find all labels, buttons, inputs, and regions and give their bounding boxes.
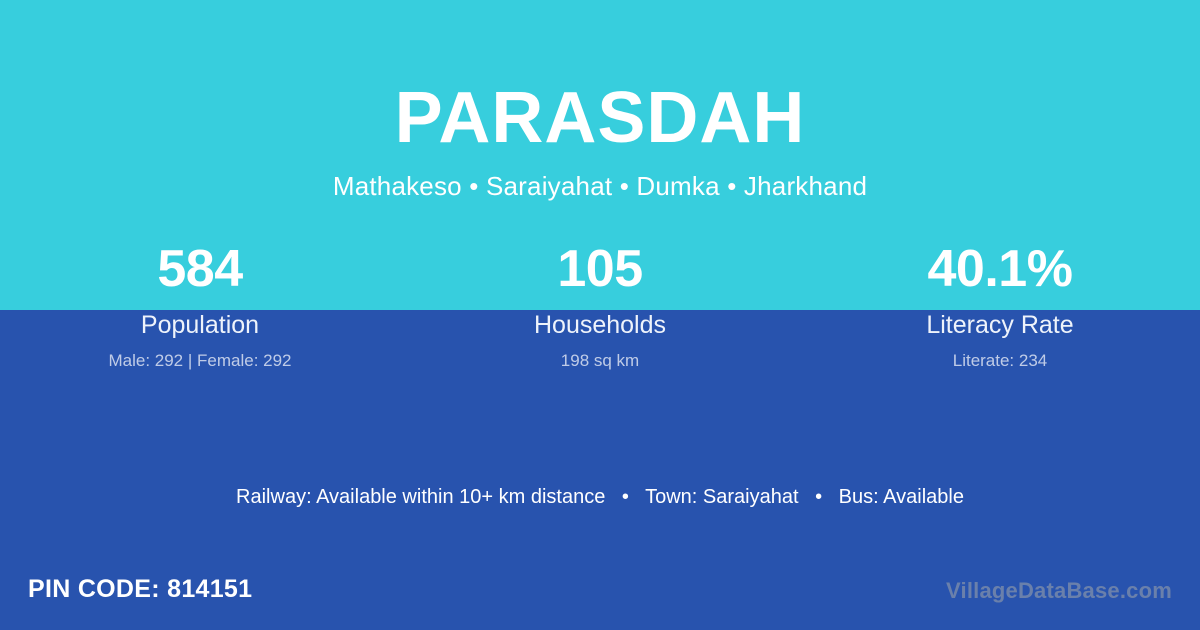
card-header: PARASDAH Mathakeso • Saraiyahat • Dumka … [0, 0, 1200, 199]
infrastructure-row: Railway: Available within 10+ km distanc… [0, 487, 1200, 507]
stat-value: 584 [0, 243, 400, 299]
breadcrumb: Mathakeso • Saraiyahat • Dumka • Jharkha… [0, 154, 1200, 199]
site-watermark: VillageDataBase.com [946, 580, 1172, 602]
stat-sublabel: Male: 292 | Female: 292 [0, 352, 400, 369]
village-info-card: PARASDAH Mathakeso • Saraiyahat • Dumka … [0, 0, 1200, 630]
infra-town: Town: Saraiyahat [645, 486, 798, 508]
stat-value: 105 [400, 243, 800, 299]
stat-sublabel: 198 sq km [400, 352, 800, 369]
page-title: PARASDAH [0, 0, 1200, 154]
infra-bus: Bus: Available [839, 486, 964, 508]
stat-literacy-rate: 40.1% Literacy Rate Literate: 234 [800, 243, 1200, 369]
stat-label: Population [0, 313, 400, 338]
stat-sublabel: Literate: 234 [800, 352, 1200, 369]
stat-label: Literacy Rate [800, 313, 1200, 338]
stat-label: Households [400, 313, 800, 338]
stat-households: 105 Households 198 sq km [400, 243, 800, 369]
card-footer: PIN CODE: 814151 VillageDataBase.com [0, 575, 1200, 615]
stat-population: 584 Population Male: 292 | Female: 292 [0, 243, 400, 369]
stat-value: 40.1% [800, 243, 1200, 299]
bullet-separator-icon: • [804, 486, 833, 508]
infra-railway: Railway: Available within 10+ km distanc… [236, 486, 605, 508]
bullet-separator-icon: • [611, 486, 640, 508]
pin-code: PIN CODE: 814151 [28, 577, 252, 602]
stats-row: 584 Population Male: 292 | Female: 292 1… [0, 243, 1200, 369]
